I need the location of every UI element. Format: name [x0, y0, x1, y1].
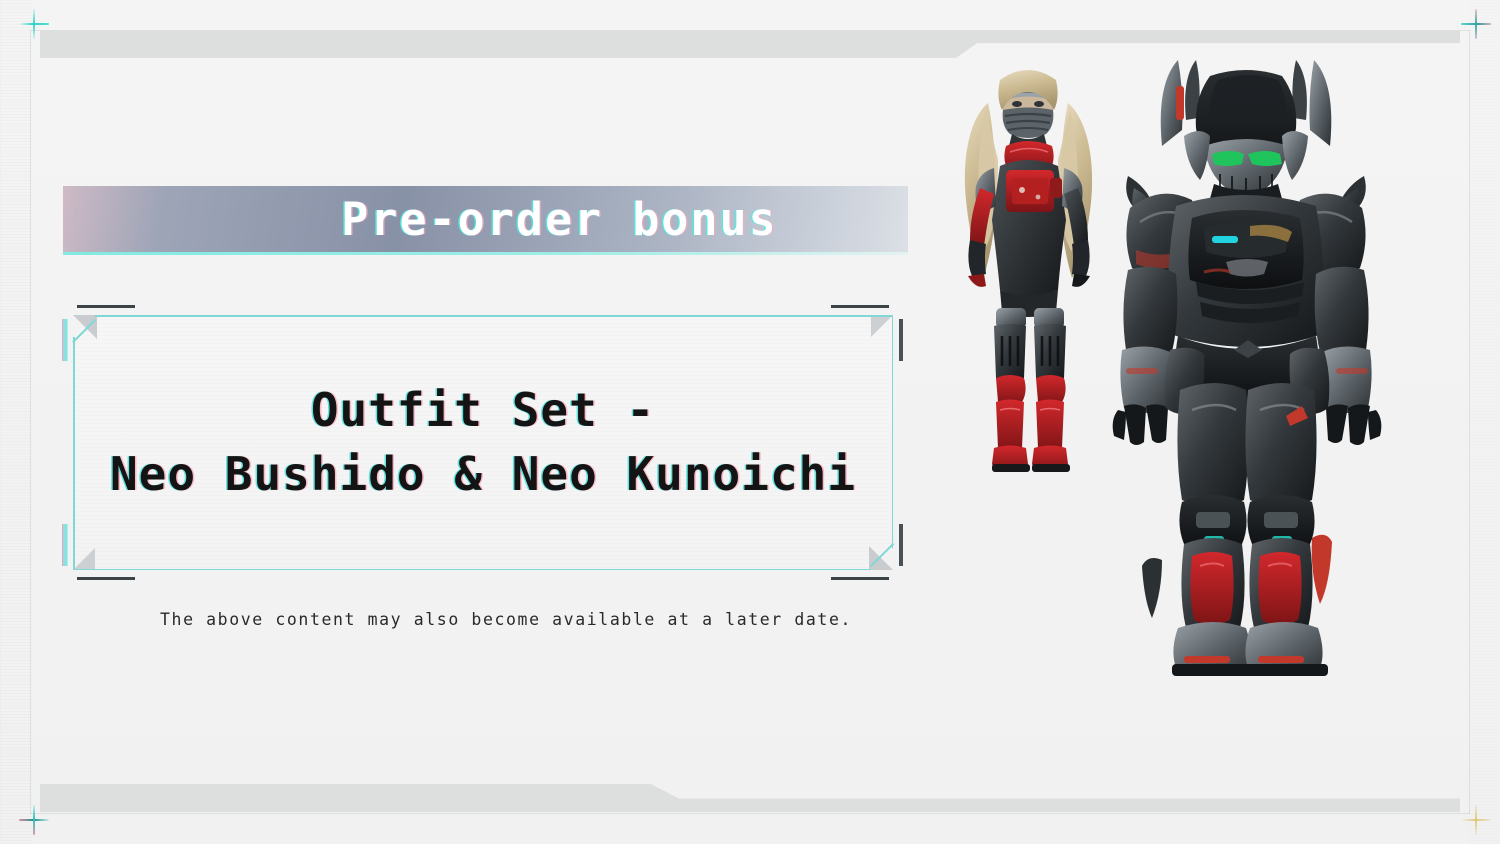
decorative-bar-top [40, 30, 1460, 58]
plus-marker-icon-top-right [1461, 9, 1491, 39]
availability-disclaimer: The above content may also become availa… [160, 610, 852, 629]
preorder-bonus-screen: Pre-order bonus Outfit Set - [0, 0, 1500, 844]
banner-title: Pre-order bonus [341, 193, 777, 246]
decorative-bar-bottom [40, 784, 1460, 812]
bonus-item-text: Outfit Set - Neo Bushido & Neo Kunoichi [73, 315, 893, 570]
right-margin-texture [1468, 0, 1500, 844]
bonus-item-panel: Outfit Set - Neo Bushido & Neo Kunoichi [63, 305, 903, 580]
character-artwork [950, 50, 1470, 790]
bonus-item-line-2: Neo Bushido & Neo Kunoichi [110, 446, 856, 504]
bushido-figure [1113, 60, 1382, 676]
plus-marker-icon-bottom-right [1461, 805, 1491, 835]
kunoichi-figure [965, 70, 1092, 472]
frame-line-left [30, 30, 31, 814]
frame-line-bottom [30, 813, 1470, 814]
bonus-item-line-1: Outfit Set - [311, 382, 655, 440]
frame-line-right [1469, 30, 1470, 814]
left-margin-texture [0, 0, 32, 844]
preorder-bonus-banner: Pre-order bonus [63, 186, 908, 252]
